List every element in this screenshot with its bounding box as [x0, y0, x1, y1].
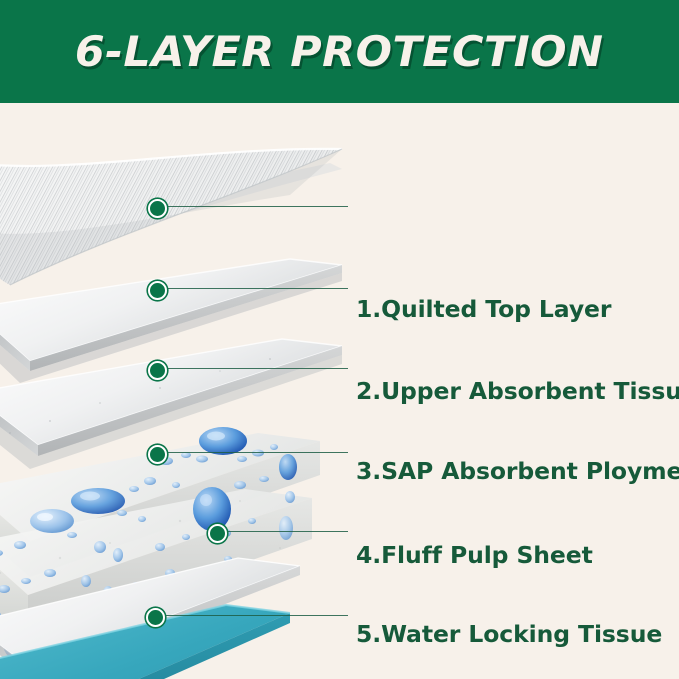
callout-dot[interactable]: [148, 445, 167, 464]
layer-label-3: 3.SAP Absorbent Ploymer: [356, 457, 679, 485]
callout-line: [155, 368, 348, 369]
callout-line: [215, 531, 348, 532]
callout-line: [155, 288, 348, 289]
header-banner: 6-LAYER PROTECTION: [0, 0, 679, 103]
callout-line: [153, 615, 348, 616]
infographic-root: 6-LAYER PROTECTION: [0, 0, 679, 679]
layer-label-5: 5.Water Locking Tissue: [356, 620, 662, 648]
page-title: 6-LAYER PROTECTION: [75, 27, 604, 76]
layer-label-2: 2.Upper Absorbent Tissue: [356, 377, 679, 405]
callout-group: 1.Quilted Top Layer 2.Upper Absorbent Ti…: [0, 103, 679, 679]
callout-dot[interactable]: [148, 281, 167, 300]
callout-line: [155, 206, 348, 207]
callout-line: [155, 452, 348, 453]
callout-dot[interactable]: [146, 608, 165, 627]
layer-label-1: 1.Quilted Top Layer: [356, 295, 611, 323]
callout-dot[interactable]: [148, 199, 167, 218]
callout-dot[interactable]: [208, 524, 227, 543]
layer-label-4: 4.Fluff Pulp Sheet: [356, 541, 593, 569]
callout-dot[interactable]: [148, 361, 167, 380]
